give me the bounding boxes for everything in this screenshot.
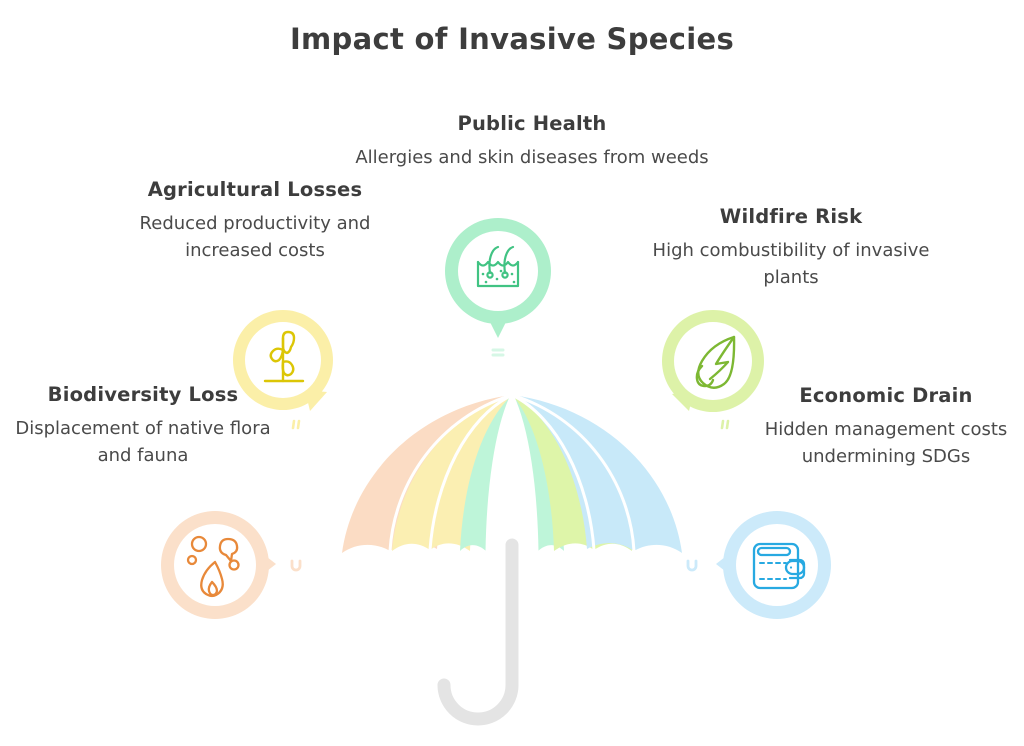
connector-tick-biodiversity-loss [288, 557, 304, 573]
umbrella-illustration [320, 385, 704, 745]
bubble-inner-public-health [458, 231, 538, 311]
page-title: Impact of Invasive Species [0, 22, 1024, 56]
bubble-wildfire-risk[interactable] [658, 308, 768, 426]
text-block-agricultural-losses: Agricultural Losses Reduced productivity… [95, 178, 415, 264]
heading-public-health: Public Health [338, 112, 726, 136]
connector-tick-wildfire-risk [718, 418, 732, 432]
body-wildfire-risk: High combustibility of invasive plants [642, 237, 940, 291]
bubble-agricultural-losses[interactable] [231, 308, 336, 426]
text-block-public-health: Public Health Allergies and skin disease… [338, 112, 726, 171]
heading-economic-drain: Economic Drain [740, 384, 1024, 408]
bubble-public-health[interactable] [443, 216, 553, 341]
heading-agricultural-losses: Agricultural Losses [95, 178, 415, 202]
body-public-health: Allergies and skin diseases from weeds [338, 144, 726, 171]
infographic-canvas: Impact of Invasive Species [0, 0, 1024, 746]
text-block-wildfire-risk: Wildfire Risk High combustibility of inv… [642, 205, 940, 291]
connector-tick-economic-drain [684, 557, 700, 573]
bubble-inner-economic-drain [736, 524, 818, 606]
bubble-economic-drain[interactable] [712, 508, 834, 626]
body-agricultural-losses: Reduced productivity and increased costs [95, 210, 415, 264]
umbrella-handle [444, 545, 512, 719]
heading-wildfire-risk: Wildfire Risk [642, 205, 940, 229]
bubble-tail-agricultural-losses [305, 390, 327, 411]
connector-tick-public-health [490, 345, 506, 361]
bubble-tail-public-health [484, 310, 512, 338]
connector-tick-agricultural-losses [290, 418, 304, 432]
text-block-economic-drain: Economic Drain Hidden management costs u… [740, 384, 1024, 470]
body-economic-drain: Hidden management costs undermining SDGs [740, 416, 1024, 470]
bubble-biodiversity-loss[interactable] [158, 508, 278, 626]
